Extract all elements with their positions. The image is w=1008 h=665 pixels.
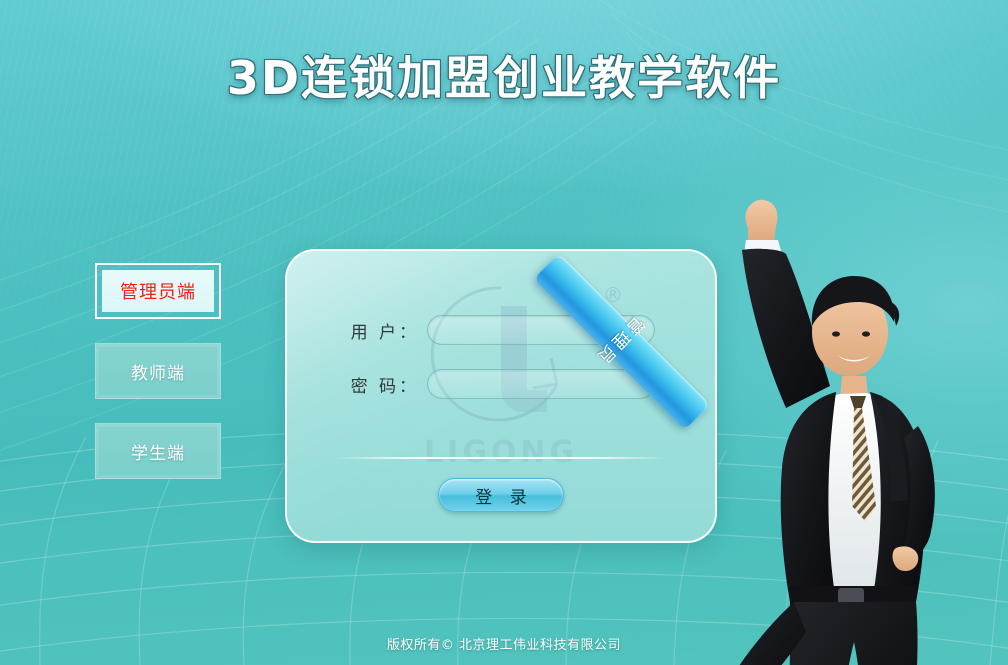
- role-button-teacher[interactable]: 教师端: [95, 343, 221, 399]
- login-button[interactable]: 登 录: [438, 478, 564, 512]
- corner-ribbon-label: 管理员: [592, 312, 652, 372]
- role-button-administrator[interactable]: 管理员端: [95, 263, 221, 319]
- role-button-student[interactable]: 学生端: [95, 423, 221, 479]
- login-screen: 3D连锁加盟创业教学软件 管理员端 教师端 学生端 ® LIGONG 用 户：: [0, 0, 1008, 665]
- ligong-wordmark: LIGONG: [424, 435, 578, 470]
- form-divider: [333, 457, 669, 459]
- copyright-footer: 版权所有© 北京理工伟业科技有限公司: [0, 634, 1008, 653]
- role-button-administrator-label: 管理员端: [102, 270, 214, 312]
- role-button-student-label: 学生端: [131, 439, 185, 464]
- username-label: 用 户：: [333, 318, 419, 343]
- login-button-label: 登 录: [469, 483, 532, 508]
- businessman-photo: [690, 150, 1008, 665]
- page-title: 3D连锁加盟创业教学软件: [0, 50, 1008, 106]
- role-button-teacher-label: 教师端: [131, 359, 185, 384]
- password-input[interactable]: [427, 369, 655, 399]
- password-label: 密 码：: [333, 372, 419, 397]
- role-selector: 管理员端 教师端 学生端: [95, 263, 221, 503]
